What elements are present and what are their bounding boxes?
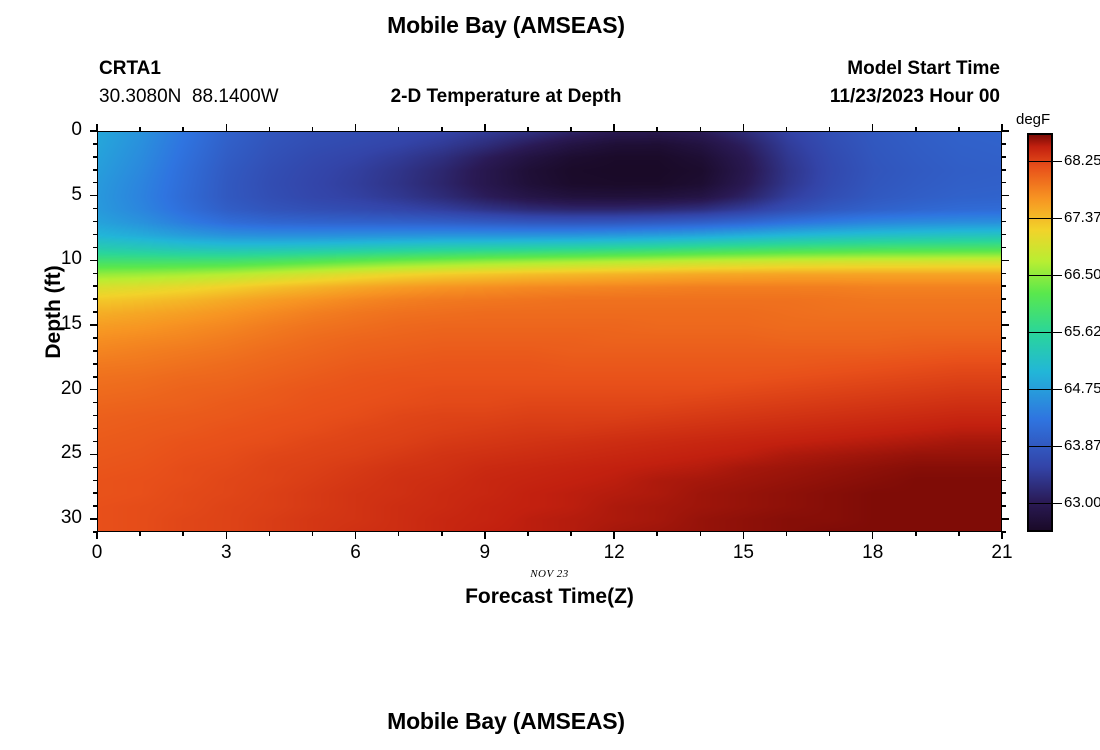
y-axis-minor-tick [93, 221, 97, 223]
model-start-time-label: Model Start Time [700, 58, 1000, 80]
y-axis-tick-label: 15 [42, 313, 82, 335]
colorbar-tick-label: 64.750 [1064, 380, 1100, 397]
x-axis-tick-top [872, 124, 874, 131]
y-axis-minor-tick-right [1002, 428, 1006, 430]
y-axis-tick-right [1002, 260, 1009, 262]
colorbar-tick-label: 65.625 [1064, 323, 1100, 340]
y-axis-minor-tick-right [1002, 337, 1006, 339]
y-axis-tick-right [1002, 324, 1009, 326]
x-axis-tick-label: 12 [591, 542, 637, 564]
x-axis-minor-tick [527, 532, 529, 536]
y-axis-minor-tick-right [1002, 311, 1006, 313]
y-axis-tick-right [1002, 454, 1009, 456]
y-axis-minor-tick-right [1002, 467, 1006, 469]
y-axis-minor-tick [93, 182, 97, 184]
y-axis-tick [90, 454, 97, 456]
x-axis-tick-top [355, 124, 357, 131]
colorbar-tick [1053, 332, 1062, 334]
y-axis-minor-tick [93, 467, 97, 469]
colorbar-tick-label: 68.250 [1064, 152, 1100, 169]
y-axis-tick-right [1002, 130, 1009, 132]
y-axis-tick-label: 0 [42, 119, 82, 141]
x-axis-minor-tick [182, 532, 184, 536]
colorbar-band-divider [1027, 446, 1053, 447]
x-axis-minor-tick [829, 532, 831, 536]
y-axis-minor-tick [93, 169, 97, 171]
x-axis-tick [743, 532, 745, 539]
x-axis-minor-tick [441, 532, 443, 536]
y-axis-tick-label: 20 [42, 378, 82, 400]
y-axis-minor-tick-right [1002, 402, 1006, 404]
y-axis-minor-tick [93, 402, 97, 404]
y-axis-minor-tick [93, 234, 97, 236]
y-axis-minor-tick [93, 311, 97, 313]
x-axis-tick [226, 532, 228, 539]
y-axis-minor-tick-right [1002, 285, 1006, 287]
y-axis-tick [90, 260, 97, 262]
model-start-time-value: 11/23/2023 Hour 00 [700, 86, 1000, 108]
colorbar-tick [1053, 389, 1062, 391]
y-axis-minor-tick [93, 143, 97, 145]
y-axis-tick-label: 25 [42, 442, 82, 464]
y-axis-minor-tick-right [1002, 363, 1006, 365]
x-axis-tick [872, 532, 874, 539]
x-axis-title: Forecast Time(Z) [97, 585, 1002, 609]
y-axis-minor-tick-right [1002, 492, 1006, 494]
y-axis-minor-tick [93, 492, 97, 494]
x-axis-minor-tick-top [656, 127, 658, 131]
y-axis-minor-tick-right [1002, 156, 1006, 158]
y-axis-minor-tick-right [1002, 273, 1006, 275]
y-axis-minor-tick-right [1002, 221, 1006, 223]
x-axis-tick [355, 532, 357, 539]
x-axis-minor-tick-top [312, 127, 314, 131]
colorbar-band-divider [1027, 275, 1053, 276]
heatmap-plot-area [97, 131, 1002, 532]
x-axis-minor-tick-top [182, 127, 184, 131]
x-axis-date-marker: NOV 23 [97, 568, 1002, 580]
y-axis-minor-tick-right [1002, 350, 1006, 352]
colorbar-tick-label: 63.000 [1064, 494, 1100, 511]
y-axis-minor-tick-right [1002, 182, 1006, 184]
x-axis-minor-tick-top [269, 127, 271, 131]
x-axis-tick-label: 9 [462, 542, 508, 564]
x-axis-tick-top [226, 124, 228, 131]
x-axis-minor-tick-top [700, 127, 702, 131]
x-axis-tick-top [743, 124, 745, 131]
x-axis-minor-tick [656, 532, 658, 536]
y-axis-minor-tick [93, 505, 97, 507]
y-axis-tick [90, 195, 97, 197]
x-axis-minor-tick [700, 532, 702, 536]
x-axis-minor-tick [786, 532, 788, 536]
y-axis-minor-tick-right [1002, 480, 1006, 482]
x-axis-minor-tick [139, 532, 141, 536]
y-axis-minor-tick [93, 480, 97, 482]
y-axis-minor-tick [93, 337, 97, 339]
y-axis-tick-right [1002, 195, 1009, 197]
x-axis-tick-label: 0 [74, 542, 120, 564]
y-axis-tick-label: 30 [42, 507, 82, 529]
y-axis-minor-tick-right [1002, 415, 1006, 417]
x-axis-minor-tick-top [958, 127, 960, 131]
y-axis-minor-tick [93, 428, 97, 430]
y-axis-minor-tick-right [1002, 208, 1006, 210]
colorbar-band-divider [1027, 389, 1053, 390]
colorbar-tick [1053, 275, 1062, 277]
y-axis-tick-label: 5 [42, 184, 82, 206]
y-axis-minor-tick [93, 376, 97, 378]
y-axis-minor-tick-right [1002, 247, 1006, 249]
x-axis-tick-label: 18 [850, 542, 896, 564]
x-axis-minor-tick-top [786, 127, 788, 131]
temperature-heatmap [98, 132, 1002, 532]
colorbar-band-divider [1027, 161, 1053, 162]
x-axis-tick [613, 532, 615, 539]
colorbar-band-divider [1027, 503, 1053, 504]
colorbar-band-divider [1027, 332, 1053, 333]
x-axis-minor-tick-top [570, 127, 572, 131]
x-axis-minor-tick-top [441, 127, 443, 131]
x-axis-tick-top [613, 124, 615, 131]
y-axis-tick-right [1002, 518, 1009, 520]
y-axis-minor-tick [93, 273, 97, 275]
y-axis-minor-tick-right [1002, 505, 1006, 507]
y-axis-tick-right [1002, 389, 1009, 391]
x-axis-tick-label: 21 [979, 542, 1025, 564]
colorbar-units-label: degF [1016, 111, 1050, 128]
x-axis-tick-top [484, 124, 486, 131]
y-axis-minor-tick [93, 350, 97, 352]
page-title: Mobile Bay (AMSEAS) [0, 12, 1012, 39]
x-axis-tick [96, 532, 98, 539]
bottom-title: Mobile Bay (AMSEAS) [0, 708, 1012, 735]
colorbar-tick [1053, 218, 1062, 220]
colorbar-tick [1053, 161, 1062, 163]
chart-page: Mobile Bay (AMSEAS) CRTA1 30.3080N 88.14… [0, 0, 1100, 750]
x-axis-minor-tick-top [398, 127, 400, 131]
x-axis-tick-top [1001, 124, 1003, 131]
x-axis-minor-tick-top [139, 127, 141, 131]
x-axis-minor-tick [915, 532, 917, 536]
y-axis-tick-label: 10 [42, 248, 82, 270]
y-axis-tick [90, 324, 97, 326]
y-axis-minor-tick-right [1002, 441, 1006, 443]
x-axis-tick-label: 15 [720, 542, 766, 564]
x-axis-tick-label: 6 [333, 542, 379, 564]
x-axis-minor-tick [570, 532, 572, 536]
y-axis-minor-tick [93, 415, 97, 417]
y-axis-tick [90, 389, 97, 391]
colorbar-band-divider [1027, 218, 1053, 219]
colorbar-tick [1053, 446, 1062, 448]
y-axis-minor-tick-right [1002, 234, 1006, 236]
y-axis-minor-tick [93, 247, 97, 249]
x-axis-minor-tick-top [527, 127, 529, 131]
x-axis-minor-tick [312, 532, 314, 536]
x-axis-tick-top [96, 124, 98, 131]
x-axis-tick-label: 3 [203, 542, 249, 564]
colorbar-tick-label: 67.375 [1064, 209, 1100, 226]
x-axis-tick [1001, 532, 1003, 539]
colorbar-tick [1053, 503, 1062, 505]
x-axis-minor-tick-top [915, 127, 917, 131]
y-axis-tick [90, 518, 97, 520]
y-axis-minor-tick-right [1002, 143, 1006, 145]
colorbar-tick-label: 66.500 [1064, 266, 1100, 283]
y-axis-minor-tick-right [1002, 376, 1006, 378]
station-id: CRTA1 [99, 58, 161, 80]
y-axis-minor-tick-right [1002, 169, 1006, 171]
x-axis-tick [484, 532, 486, 539]
y-axis-minor-tick [93, 156, 97, 158]
y-axis-minor-tick-right [1002, 298, 1006, 300]
x-axis-minor-tick [958, 532, 960, 536]
colorbar-tick-label: 63.875 [1064, 437, 1100, 454]
x-axis-minor-tick-top [829, 127, 831, 131]
y-axis-minor-tick [93, 208, 97, 210]
y-axis-minor-tick [93, 363, 97, 365]
y-axis-minor-tick [93, 298, 97, 300]
x-axis-minor-tick [398, 532, 400, 536]
x-axis-minor-tick [269, 532, 271, 536]
y-axis-minor-tick [93, 285, 97, 287]
y-axis-minor-tick [93, 441, 97, 443]
